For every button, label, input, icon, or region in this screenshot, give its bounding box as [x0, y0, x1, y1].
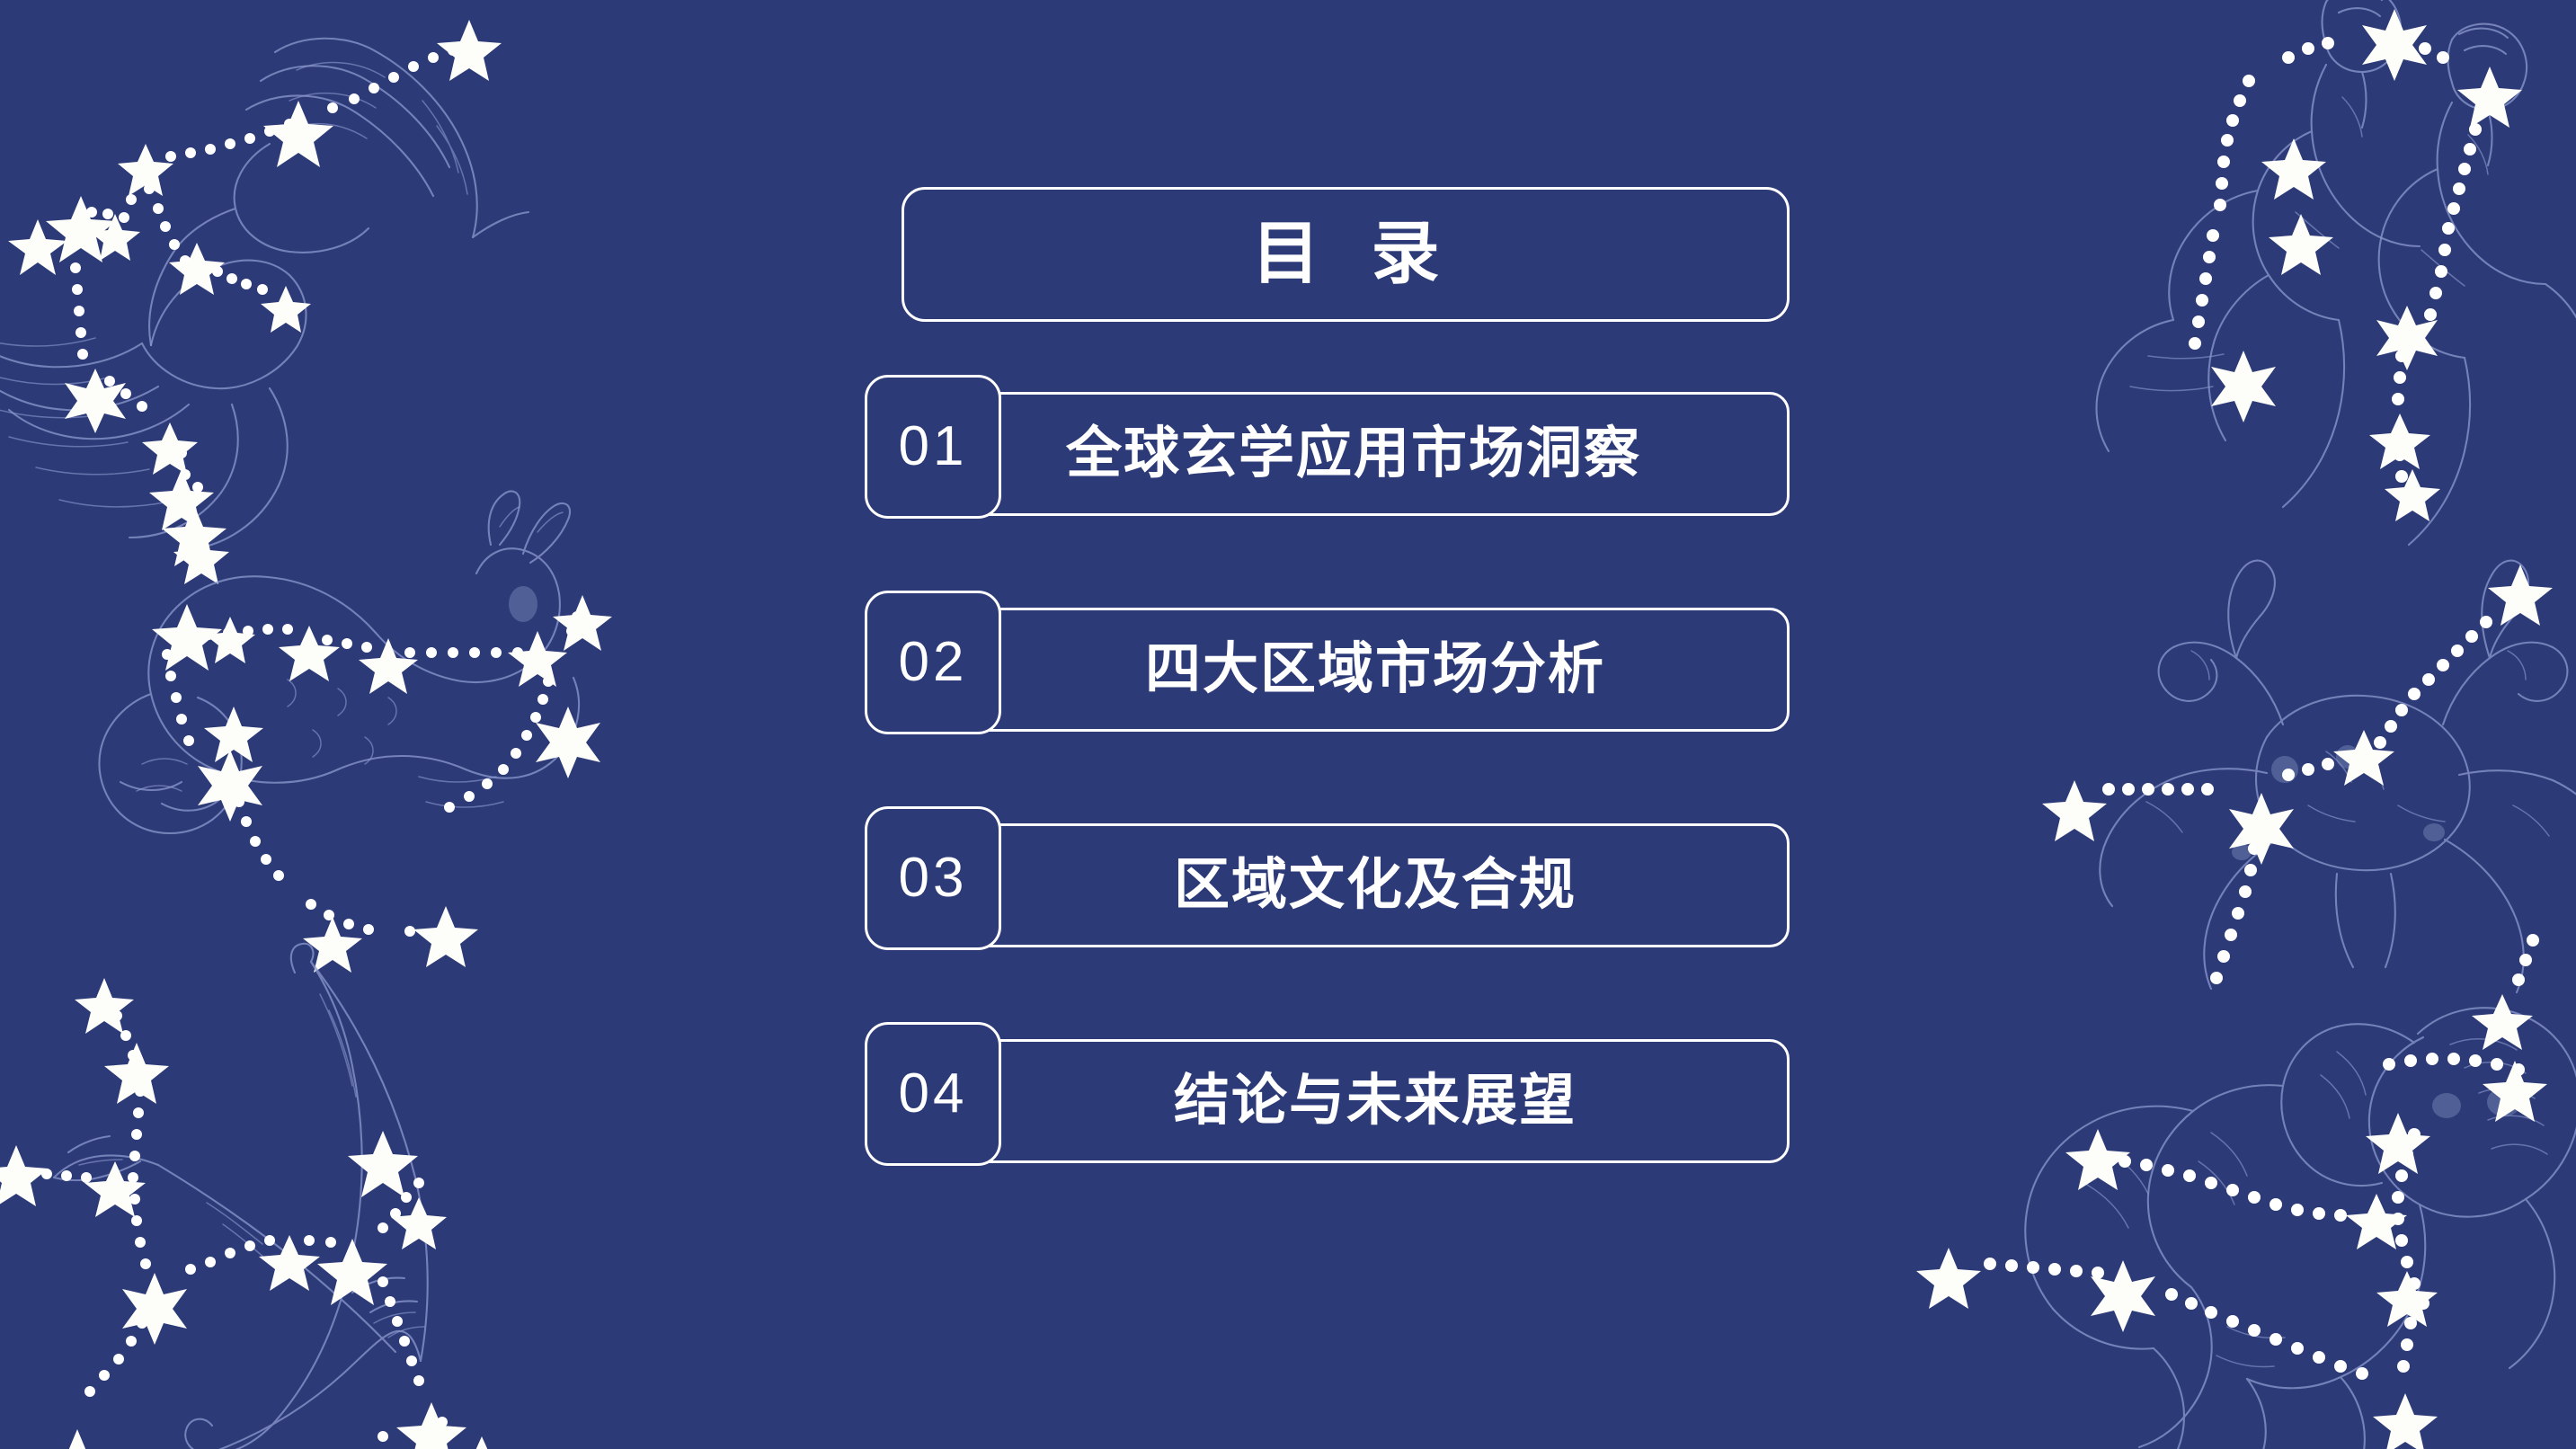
toc-item-02[interactable]: 02 四大区域市场分析	[902, 608, 1790, 732]
toc-item-01[interactable]: 01 全球玄学应用市场洞察	[902, 392, 1790, 516]
toc-number-box-01: 01	[865, 375, 1001, 519]
toc-number-box-03: 03	[865, 806, 1001, 950]
toc-rows: 01 全球玄学应用市场洞察 02 四大区域市场分析 03 区域文化及合规 04	[902, 392, 1791, 1163]
capricorn-constellation	[63, 467, 647, 971]
toc-item-04[interactable]: 04 结论与未来展望	[902, 1039, 1790, 1163]
toc-label-03: 区域文化及合规	[904, 858, 1787, 913]
toc-item-03[interactable]: 03 区域文化及合规	[902, 823, 1790, 947]
sagittarius-constellation	[0, 917, 575, 1449]
toc-number-box-04: 04	[865, 1022, 1001, 1166]
toc-number-02: 02	[899, 635, 968, 690]
toc-number-03: 03	[899, 850, 968, 906]
table-of-contents: 目 录 01 全球玄学应用市场洞察 02 四大区域市场分析 03 区域文化及合规	[902, 187, 1791, 1163]
toc-number-01: 01	[899, 419, 968, 475]
page-title: 目 录	[1235, 220, 1455, 289]
toc-label-04: 结论与未来展望	[904, 1073, 1787, 1129]
leo-constellation	[1914, 926, 2576, 1449]
toc-label-02: 四大区域市场分析	[904, 642, 1787, 698]
gemini-constellation	[2094, 0, 2576, 518]
toc-number-04: 04	[899, 1066, 968, 1122]
aquarius-constellation	[0, 0, 548, 557]
slide-canvas: 目 录 01 全球玄学应用市场洞察 02 四大区域市场分析 03 区域文化及合规	[0, 0, 2576, 1449]
toc-number-box-02: 02	[865, 591, 1001, 734]
cancer-constellation	[2067, 539, 2576, 1007]
toc-label-01: 全球玄学应用市场洞察	[1066, 426, 1641, 482]
page-title-box: 目 录	[902, 187, 1790, 322]
